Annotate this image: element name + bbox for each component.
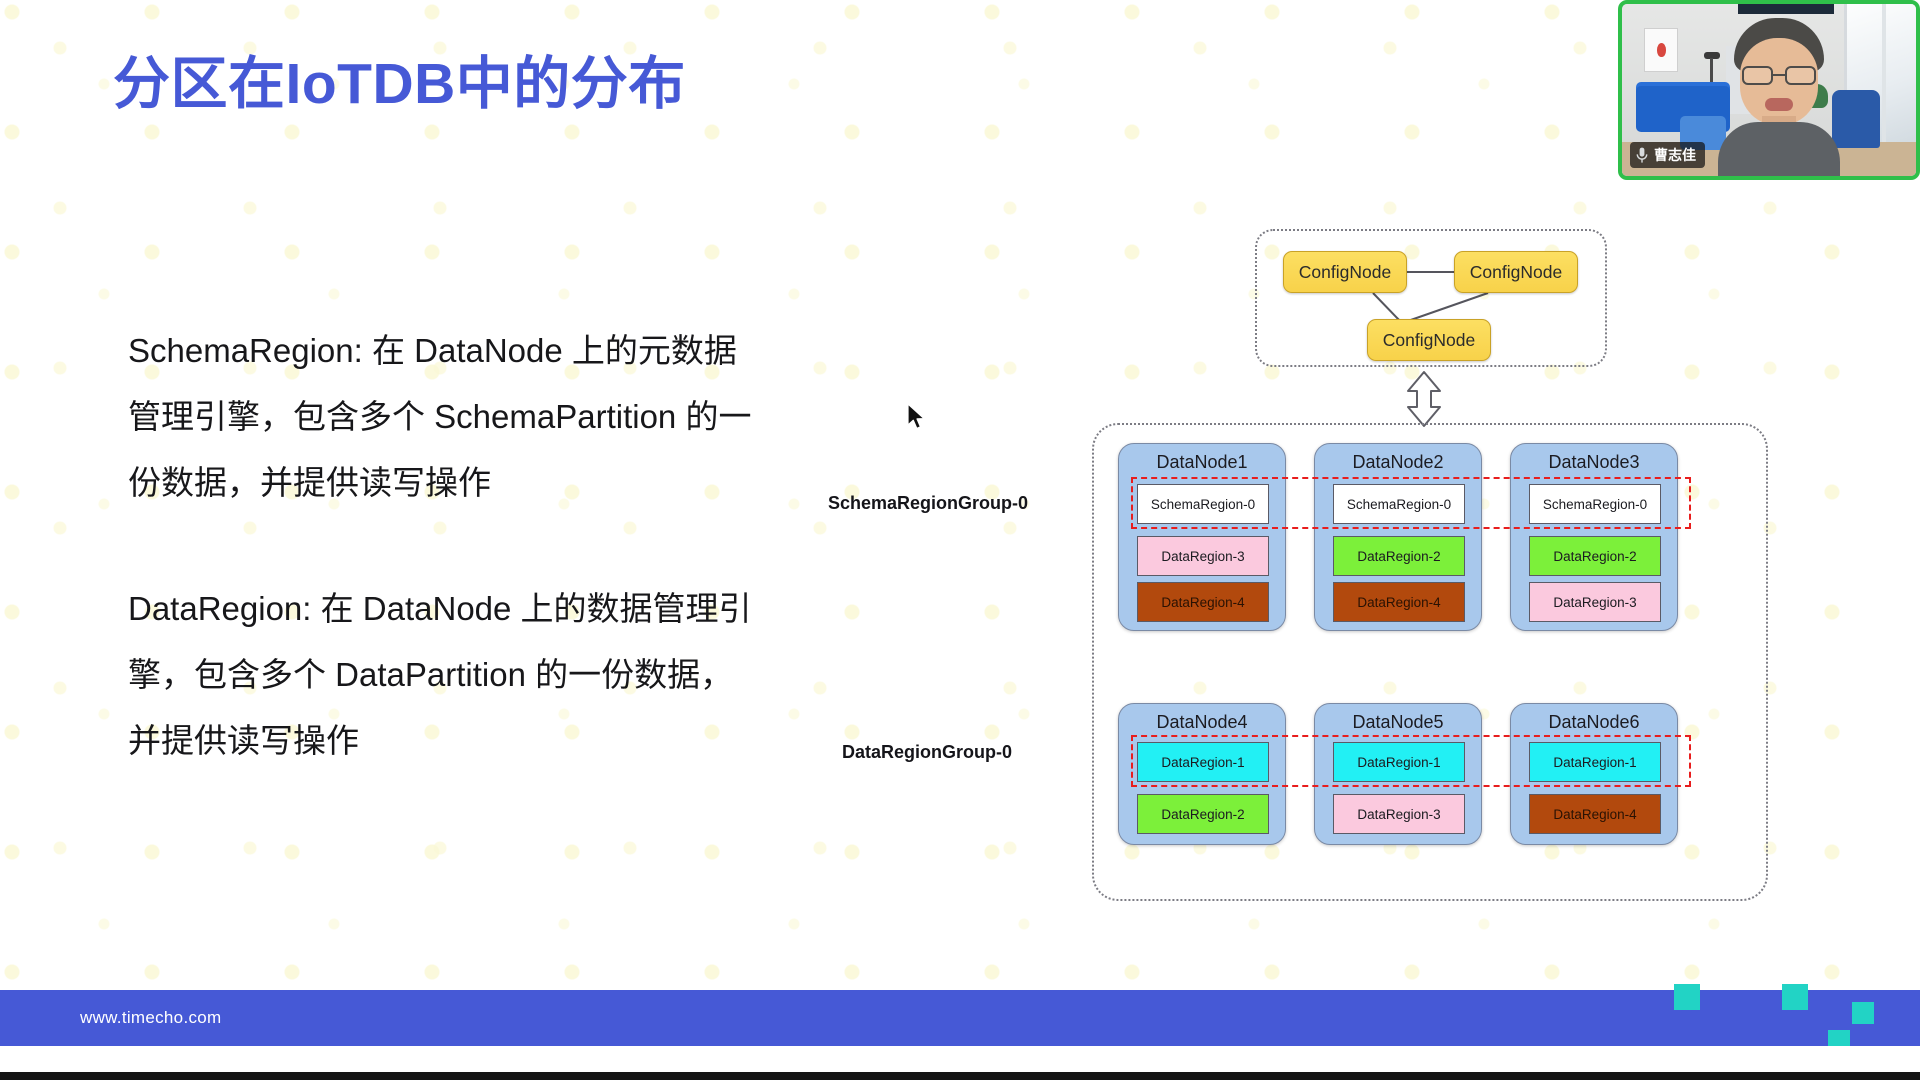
footer-url: www.timecho.com bbox=[80, 1008, 221, 1028]
region-label: SchemaRegion-0 bbox=[1543, 497, 1647, 512]
region-dataregion-1[interactable]: DataRegion-1 bbox=[1529, 742, 1661, 782]
region-schemaregion-0[interactable]: SchemaRegion-0 bbox=[1137, 484, 1269, 524]
confignode-label: ConfigNode bbox=[1383, 330, 1475, 351]
region-dataregion-2[interactable]: DataRegion-2 bbox=[1137, 794, 1269, 834]
datanode-6[interactable]: DataNode6 DataRegion-1 DataRegion-4 bbox=[1510, 703, 1678, 845]
region-dataregion-4[interactable]: DataRegion-4 bbox=[1333, 582, 1465, 622]
datanode-title: DataNode4 bbox=[1119, 712, 1285, 733]
timecho-logo-icon bbox=[1632, 962, 1892, 1050]
region-label: SchemaRegion-0 bbox=[1151, 497, 1255, 512]
confignode-box-1[interactable]: ConfigNode bbox=[1283, 251, 1407, 293]
region-dataregion-4[interactable]: DataRegion-4 bbox=[1529, 794, 1661, 834]
region-schemaregion-0[interactable]: SchemaRegion-0 bbox=[1333, 484, 1465, 524]
datanode-3[interactable]: DataNode3 SchemaRegion-0 DataRegion-2 Da… bbox=[1510, 443, 1678, 631]
architecture-diagram: ConfigNode ConfigNode ConfigNode DataNod… bbox=[860, 215, 1800, 915]
video-participant-tile[interactable]: 曹志佳 bbox=[1618, 0, 1920, 180]
microphone-icon bbox=[1636, 147, 1648, 164]
confignode-label: ConfigNode bbox=[1299, 262, 1391, 283]
region-label: DataRegion-1 bbox=[1553, 755, 1636, 770]
region-label: DataRegion-2 bbox=[1553, 549, 1636, 564]
region-label: DataRegion-2 bbox=[1161, 807, 1244, 822]
paragraph-line: 擎，包含多个 DataPartition 的一份数据， bbox=[128, 642, 848, 708]
screen-bottom-edge bbox=[0, 1072, 1920, 1080]
bidirectional-arrow-icon bbox=[1400, 370, 1448, 428]
region-schemaregion-0[interactable]: SchemaRegion-0 bbox=[1529, 484, 1661, 524]
region-dataregion-2[interactable]: DataRegion-2 bbox=[1529, 536, 1661, 576]
paragraph-data-region: DataRegion: 在 DataNode 上的数据管理引 擎，包含多个 Da… bbox=[128, 576, 848, 774]
region-label: DataRegion-4 bbox=[1553, 807, 1636, 822]
paragraph-schema-region: SchemaRegion: 在 DataNode 上的元数据 管理引擎，包含多个… bbox=[128, 318, 848, 516]
datanode-2[interactable]: DataNode2 SchemaRegion-0 DataRegion-2 Da… bbox=[1314, 443, 1482, 631]
confignode-box-2[interactable]: ConfigNode bbox=[1454, 251, 1578, 293]
dataregiongroup-label: DataRegionGroup-0 bbox=[842, 742, 1012, 763]
datanode-title: DataNode2 bbox=[1315, 452, 1481, 473]
paragraph-line: DataRegion: 在 DataNode 上的数据管理引 bbox=[128, 576, 848, 642]
datanode-title: DataNode1 bbox=[1119, 452, 1285, 473]
region-label: DataRegion-4 bbox=[1357, 595, 1440, 610]
paragraph-line: SchemaRegion: 在 DataNode 上的元数据 bbox=[128, 318, 848, 384]
participant-name: 曹志佳 bbox=[1654, 145, 1696, 165]
region-label: DataRegion-4 bbox=[1161, 595, 1244, 610]
region-dataregion-4[interactable]: DataRegion-4 bbox=[1137, 582, 1269, 622]
mouse-cursor bbox=[906, 403, 928, 433]
page-title: 分区在IoTDB中的分布 bbox=[113, 47, 686, 121]
datanode-title: DataNode3 bbox=[1511, 452, 1677, 473]
region-label: DataRegion-3 bbox=[1161, 549, 1244, 564]
region-label: DataRegion-2 bbox=[1357, 549, 1440, 564]
paragraph-line: 管理引擎，包含多个 SchemaPartition 的一 bbox=[128, 384, 848, 450]
region-dataregion-1[interactable]: DataRegion-1 bbox=[1333, 742, 1465, 782]
paragraph-line: 并提供读写操作 bbox=[128, 708, 848, 774]
region-dataregion-3[interactable]: DataRegion-3 bbox=[1333, 794, 1465, 834]
region-label: DataRegion-1 bbox=[1161, 755, 1244, 770]
participant-nametag: 曹志佳 bbox=[1630, 142, 1705, 168]
confignode-label: ConfigNode bbox=[1470, 262, 1562, 283]
region-dataregion-2[interactable]: DataRegion-2 bbox=[1333, 536, 1465, 576]
region-label: DataRegion-3 bbox=[1357, 807, 1440, 822]
schemaregiongroup-label: SchemaRegionGroup-0 bbox=[828, 493, 1028, 514]
region-dataregion-3[interactable]: DataRegion-3 bbox=[1529, 582, 1661, 622]
region-label: SchemaRegion-0 bbox=[1347, 497, 1451, 512]
region-label: DataRegion-3 bbox=[1553, 595, 1636, 610]
datanode-5[interactable]: DataNode5 DataRegion-1 DataRegion-3 bbox=[1314, 703, 1482, 845]
datanode-1[interactable]: DataNode1 SchemaRegion-0 DataRegion-3 Da… bbox=[1118, 443, 1286, 631]
region-dataregion-3[interactable]: DataRegion-3 bbox=[1137, 536, 1269, 576]
confignode-box-3[interactable]: ConfigNode bbox=[1367, 319, 1491, 361]
datanode-4[interactable]: DataNode4 DataRegion-1 DataRegion-2 bbox=[1118, 703, 1286, 845]
screen: 分区在IoTDB中的分布 SchemaRegion: 在 DataNode 上的… bbox=[0, 0, 1920, 1080]
datanode-title: DataNode6 bbox=[1511, 712, 1677, 733]
paragraph-line: 份数据，并提供读写操作 bbox=[128, 450, 848, 516]
region-dataregion-1[interactable]: DataRegion-1 bbox=[1137, 742, 1269, 782]
datanode-title: DataNode5 bbox=[1315, 712, 1481, 733]
region-label: DataRegion-1 bbox=[1357, 755, 1440, 770]
